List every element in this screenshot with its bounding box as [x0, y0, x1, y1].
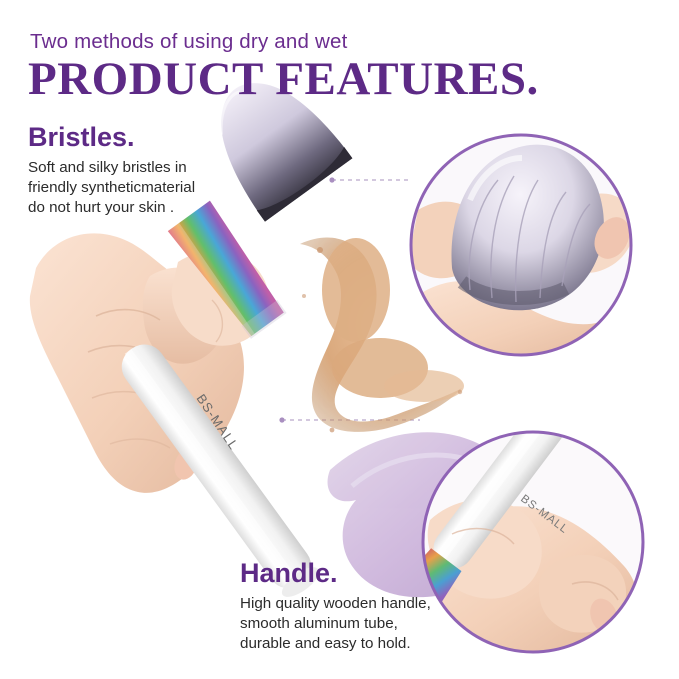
feature-body-handle: High quality wooden handle, smooth alumi… [240, 594, 490, 654]
inset-bristles-closeup [408, 135, 636, 356]
product-feature-infographic: BS-MALL [0, 0, 679, 679]
page-title: PRODUCT FEATURES. [28, 52, 539, 106]
feature-title-handle: Handle. [240, 558, 338, 589]
feature-title-bristles: Bristles. [28, 122, 135, 153]
feature-body-bristles: Soft and silky bristles in friendly synt… [28, 158, 243, 218]
header-subtitle: Two methods of using dry and wet [30, 30, 347, 54]
